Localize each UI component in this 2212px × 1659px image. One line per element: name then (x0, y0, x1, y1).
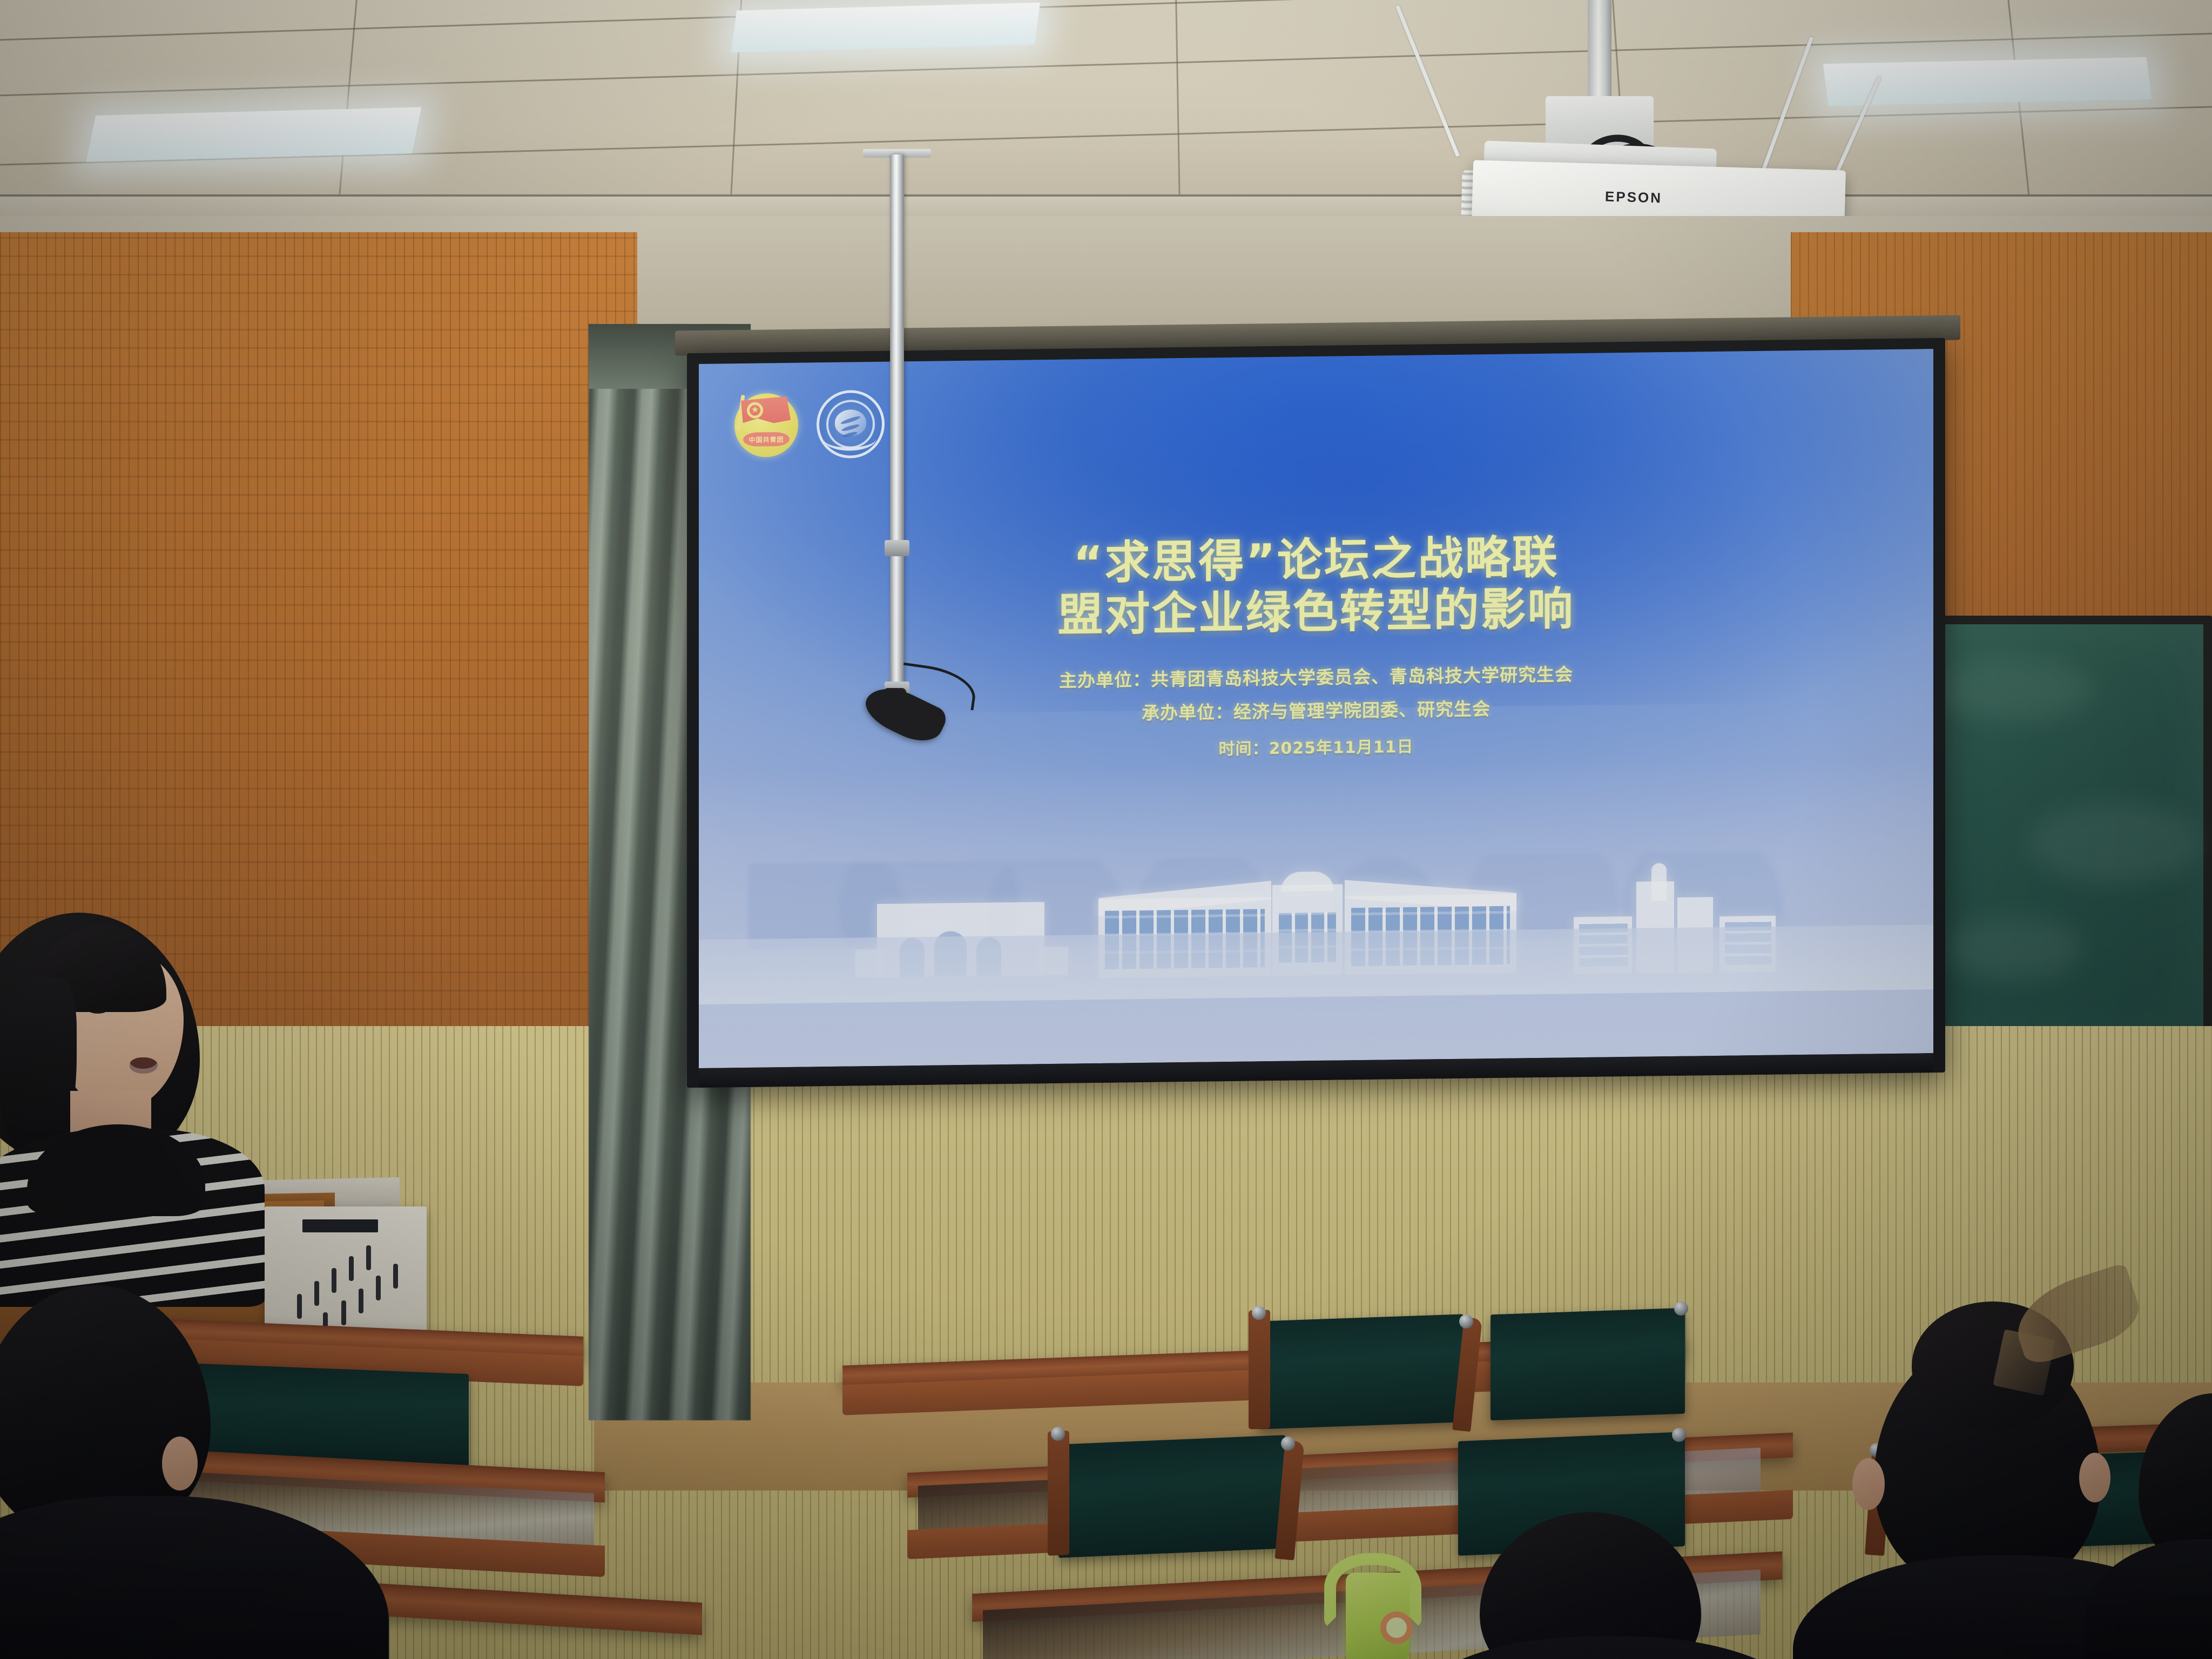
qust-university-logo-icon (817, 390, 885, 459)
projector-brand-label: EPSON (1605, 188, 1663, 207)
ceiling-light-panel (86, 107, 421, 162)
projector-mount-rod (1588, 0, 1611, 103)
slide-title: “求思得”论坛之战略联 盟对企业绿色转型的影响 (699, 527, 1933, 645)
ceiling-light-panel (1823, 57, 2152, 106)
lecture-hall-scene: EPSON ★ 中国共青团 (0, 0, 2212, 1659)
ceiling (0, 0, 2212, 232)
microphone-collar (885, 540, 909, 556)
chair-back-row[interactable] (1258, 1314, 1464, 1429)
microphone-pole (890, 154, 904, 697)
av-cabinet-badge (302, 1219, 378, 1232)
water-bottle-cap-ring (1380, 1611, 1413, 1644)
campus-skyline-illustration (699, 860, 1933, 1004)
ceiling-light-panel (731, 3, 1040, 53)
chair-mid-row[interactable] (1058, 1435, 1285, 1558)
presenter-person (0, 913, 270, 1291)
slide-logo-group: ★ 中国共青团 (732, 390, 885, 460)
communist-youth-league-logo-icon: ★ 中国共青团 (732, 391, 800, 460)
cyl-logo-text: 中国共青团 (743, 432, 790, 447)
chair-back-row[interactable] (1491, 1308, 1685, 1421)
